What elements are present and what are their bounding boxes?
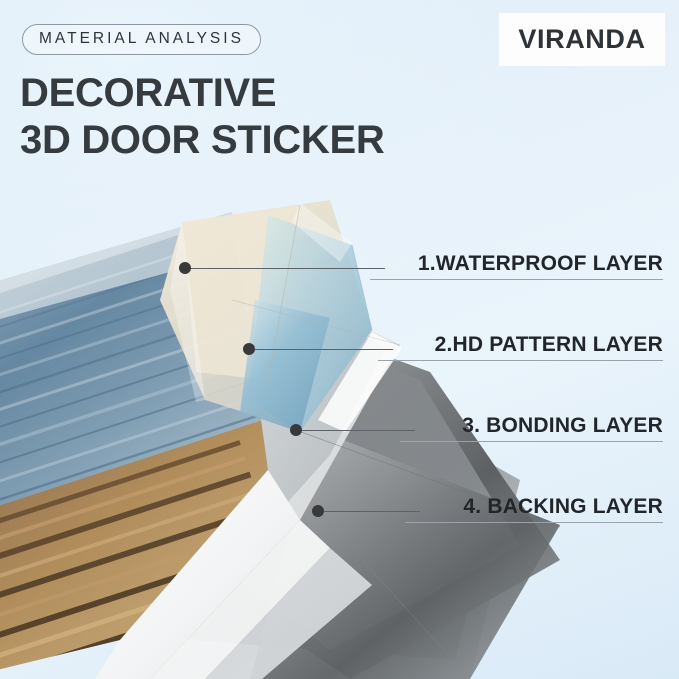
callout-underline-bonding xyxy=(400,441,663,442)
callout-label-bonding: 3. BONDING LAYER xyxy=(462,414,663,438)
section-badge: MATERIAL ANALYSIS xyxy=(22,24,261,55)
brand-name: VIRANDA xyxy=(518,24,645,55)
callout-underline-backing xyxy=(405,522,663,523)
title-line-1: DECORATIVE xyxy=(20,71,276,115)
callout-dot-waterproof xyxy=(179,262,191,274)
callout-label-hd-pattern: 2.HD PATTERN LAYER xyxy=(435,333,663,357)
material-analysis-infographic: MATERIAL ANALYSIS DECORATIVE 3D DOOR STI… xyxy=(0,0,679,679)
callout-hd-pattern: 2.HD PATTERN LAYER xyxy=(300,321,663,363)
callout-bonding: 3. BONDING LAYER xyxy=(300,402,663,444)
callout-label-waterproof: 1.WATERPROOF LAYER xyxy=(418,252,663,276)
callout-waterproof: 1.WATERPROOF LAYER xyxy=(300,240,663,282)
callout-label-backing: 4. BACKING LAYER xyxy=(463,495,663,519)
title-line-2: 3D DOOR STICKER xyxy=(20,117,384,164)
brand-logo: VIRANDA xyxy=(499,13,665,66)
callout-dot-hd-pattern xyxy=(243,343,255,355)
callout-underline-hd-pattern xyxy=(378,360,663,361)
callout-backing: 4. BACKING LAYER xyxy=(300,483,663,525)
page-title: DECORATIVE 3D DOOR STICKER xyxy=(20,70,384,164)
callout-underline-waterproof xyxy=(370,279,663,280)
